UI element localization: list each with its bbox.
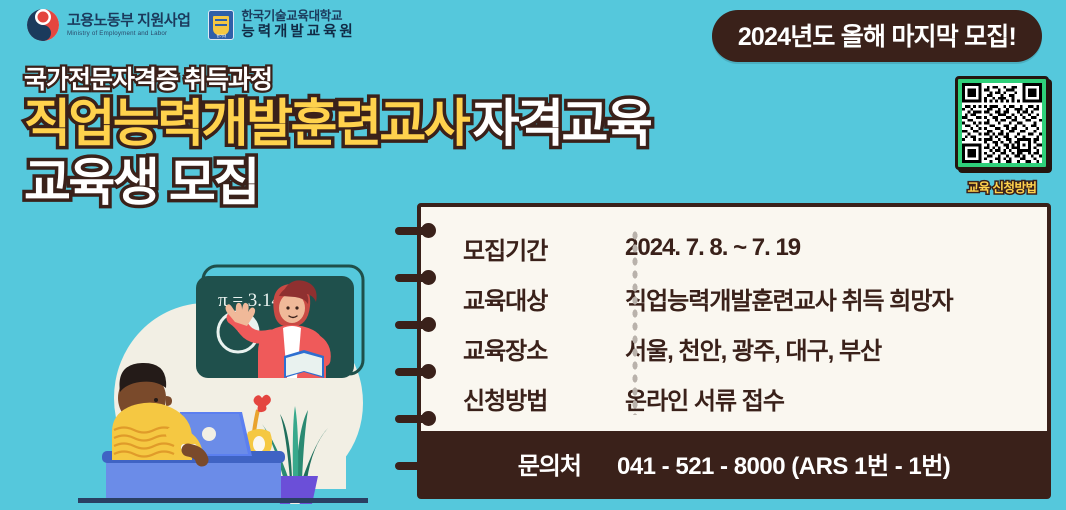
logo-bar: 고용노동부 지원사업 Ministry of Employment and La… (26, 8, 356, 42)
info-row-recruitment-period: 모집기간 2024. 7. 8. ~ 7. 19 (463, 223, 1033, 273)
notebook-ring (395, 270, 443, 283)
last-recruitment-badge: 2024년도 올해 마지막 모집! (712, 10, 1042, 62)
info-row-target: 교육대상 직업능력개발훈련교사 취득 희망자 (463, 273, 1033, 323)
contact-footer: 문의처 041 - 521 - 8000 (ARS 1번 - 1번) (421, 431, 1047, 495)
row-label: 교육대상 (463, 281, 595, 316)
notebook-ring (395, 411, 443, 424)
ministry-name-en: Ministry of Employment and Labor (67, 31, 190, 38)
info-row-how-to-apply: 신청방법 온라인 서류 접수 (463, 373, 1033, 423)
taegeuk-icon (26, 8, 60, 42)
ministry-logo: 고용노동부 지원사업 Ministry of Employment and La… (26, 8, 190, 42)
qr-code-icon[interactable] (962, 83, 1042, 163)
notebook-ring (395, 223, 443, 236)
notebook-ring (395, 317, 443, 330)
headline-line3: 교육생 모집 (24, 156, 650, 210)
poster-root: 고용노동부 지원사업 Ministry of Employment and La… (0, 0, 1066, 505)
notebook-ring (395, 364, 443, 377)
university-name: 한국기술교육대학교 (241, 10, 355, 23)
info-rows: 모집기간 2024. 7. 8. ~ 7. 19 교육대상 직업능력개발훈련교사… (463, 223, 1033, 423)
headline-main-yellow: 직업능력개발훈련교사 (24, 95, 468, 152)
headline-subtitle: 국가전문자격증 취득과정 (24, 66, 650, 95)
online-class-illustration: π = 3.14 (78, 248, 368, 505)
qr-block[interactable]: 교육 신청방법 (952, 76, 1052, 196)
qr-caption: 교육 신청방법 (952, 177, 1052, 196)
university-logo: 한기대 한국기술교육대학교 능력개발교육원 (208, 10, 355, 40)
crest-caption: 한기대 (217, 34, 227, 39)
row-label: 모집기간 (463, 231, 595, 266)
ministry-name-ko: 고용노동부 지원사업 (67, 13, 190, 29)
university-crest-icon: 한기대 (208, 10, 234, 40)
info-row-location: 교육장소 서울, 천안, 광주, 대구, 부산 (463, 323, 1033, 373)
dotted-separator (631, 229, 639, 415)
institute-name: 능력개발교육원 (241, 25, 355, 40)
qr-frame (955, 76, 1049, 170)
info-card: 모집기간 2024. 7. 8. ~ 7. 19 교육대상 직업능력개발훈련교사… (417, 203, 1051, 499)
row-value: 직업능력개발훈련교사 취득 희망자 (595, 281, 953, 316)
headline-group: 국가전문자격증 취득과정 직업능력개발훈련교사 자격교육 교육생 모집 (24, 66, 650, 210)
headline-main-white: 자격교육 (473, 95, 651, 152)
row-value: 온라인 서류 접수 (595, 381, 784, 416)
row-label: 신청방법 (463, 381, 595, 416)
headline-main: 직업능력개발훈련교사 자격교육 (24, 97, 650, 151)
contact-phone[interactable]: 041 - 521 - 8000 (ARS 1번 - 1번) (617, 446, 950, 481)
row-label: 교육장소 (463, 331, 595, 366)
contact-label: 문의처 (518, 446, 581, 481)
row-value: 2024. 7. 8. ~ 7. 19 (595, 234, 800, 262)
headline-line3-text: 교육생 모집 (24, 154, 258, 211)
